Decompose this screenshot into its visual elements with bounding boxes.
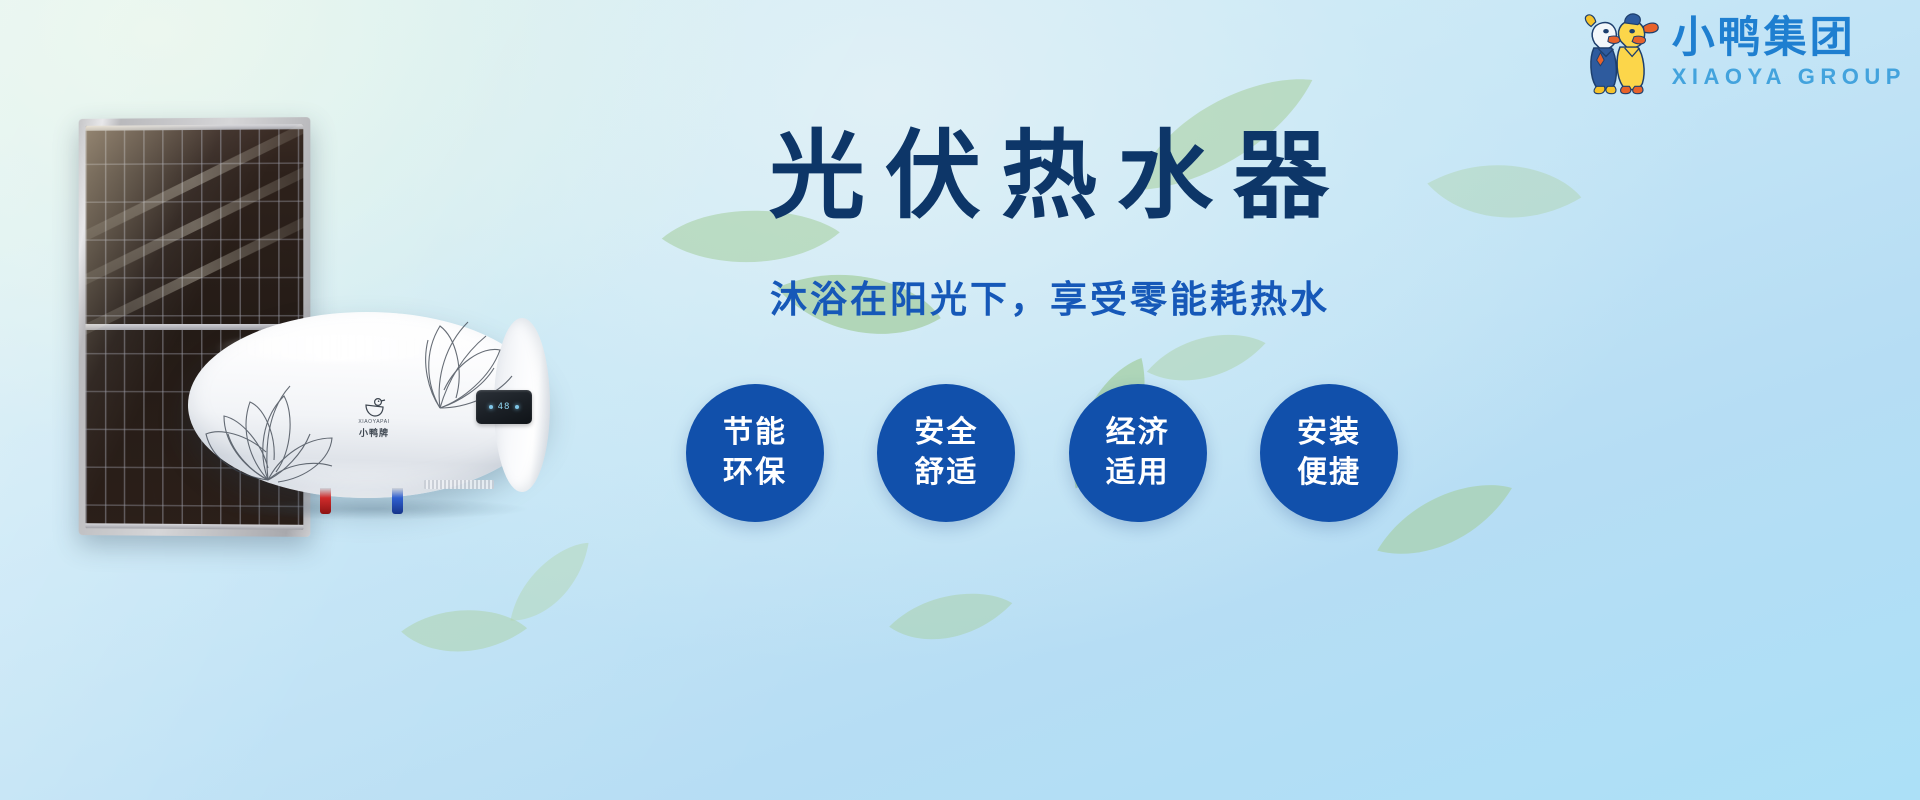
feature-badge-safe-comfortable[interactable]: 安全 舒适 [877,384,1015,522]
duck-outline-icon [362,396,386,418]
heater-tank-body: XIAOYAPAI 小鸭牌 48 [188,312,546,498]
heater-brand-en: XIAOYAPAI [358,419,389,425]
leaf-decoration-9 [875,574,1024,663]
heater-brand-cn: 小鸭牌 [359,426,389,439]
leaf-decoration-7 [391,580,536,686]
panel-indicator-dot [489,405,493,409]
promo-banner: 小鸭集团 XIAOYA GROUP [0,0,1920,800]
heater-rating-label [424,480,494,489]
feature-badge-economical[interactable]: 经济 适用 [1069,384,1207,522]
heater-display-panel[interactable]: 48 [476,390,532,424]
feature-line-2: 适用 [1106,453,1170,493]
feature-line-1: 安装 [1297,413,1361,453]
feature-badge-list: 节能 环保 安全 舒适 经济 适用 安装 便捷 [686,368,1398,538]
logo-wordmark: 小鸭集团 XIAOYA GROUP [1672,17,1906,88]
logo-name-en: XIAOYA GROUP [1672,66,1906,88]
feature-badge-easy-install[interactable]: 安装 便捷 [1260,384,1398,522]
leaf-decoration-10 [1417,120,1590,266]
hero-copy: 光伏热水器 沐浴在阳光下，享受零能耗热水 [700,126,1400,323]
feature-badge-energy-saving[interactable]: 节能 环保 [686,384,824,522]
leaf-decoration-8 [489,536,613,634]
panel-power-dot [515,405,519,409]
product-shadow [212,498,530,520]
feature-line-1: 安全 [914,413,978,453]
panel-temperature-readout: 48 [498,402,511,412]
feature-line-1: 经济 [1106,413,1170,453]
cold-water-inlet-pipe [320,488,331,514]
feature-line-2: 便捷 [1297,453,1361,493]
floral-decal-left [198,368,338,488]
hero-subtitle: 沐浴在阳光下，享受零能耗热水 [700,269,1400,323]
two-ducks-mascot-icon [1578,6,1662,98]
heater-brand-mark: XIAOYAPAI 小鸭牌 [340,396,408,439]
feature-line-2: 舒适 [914,453,978,493]
logo-name-cn: 小鸭集团 [1672,17,1856,60]
company-logo[interactable]: 小鸭集团 XIAOYA GROUP [1578,6,1906,98]
feature-line-1: 节能 [723,413,787,453]
feature-line-2: 环保 [723,453,787,493]
hot-water-outlet-pipe [392,488,403,514]
water-heater-product: XIAOYAPAI 小鸭牌 48 [188,312,558,504]
page-title: 光伏热水器 [718,126,1400,227]
